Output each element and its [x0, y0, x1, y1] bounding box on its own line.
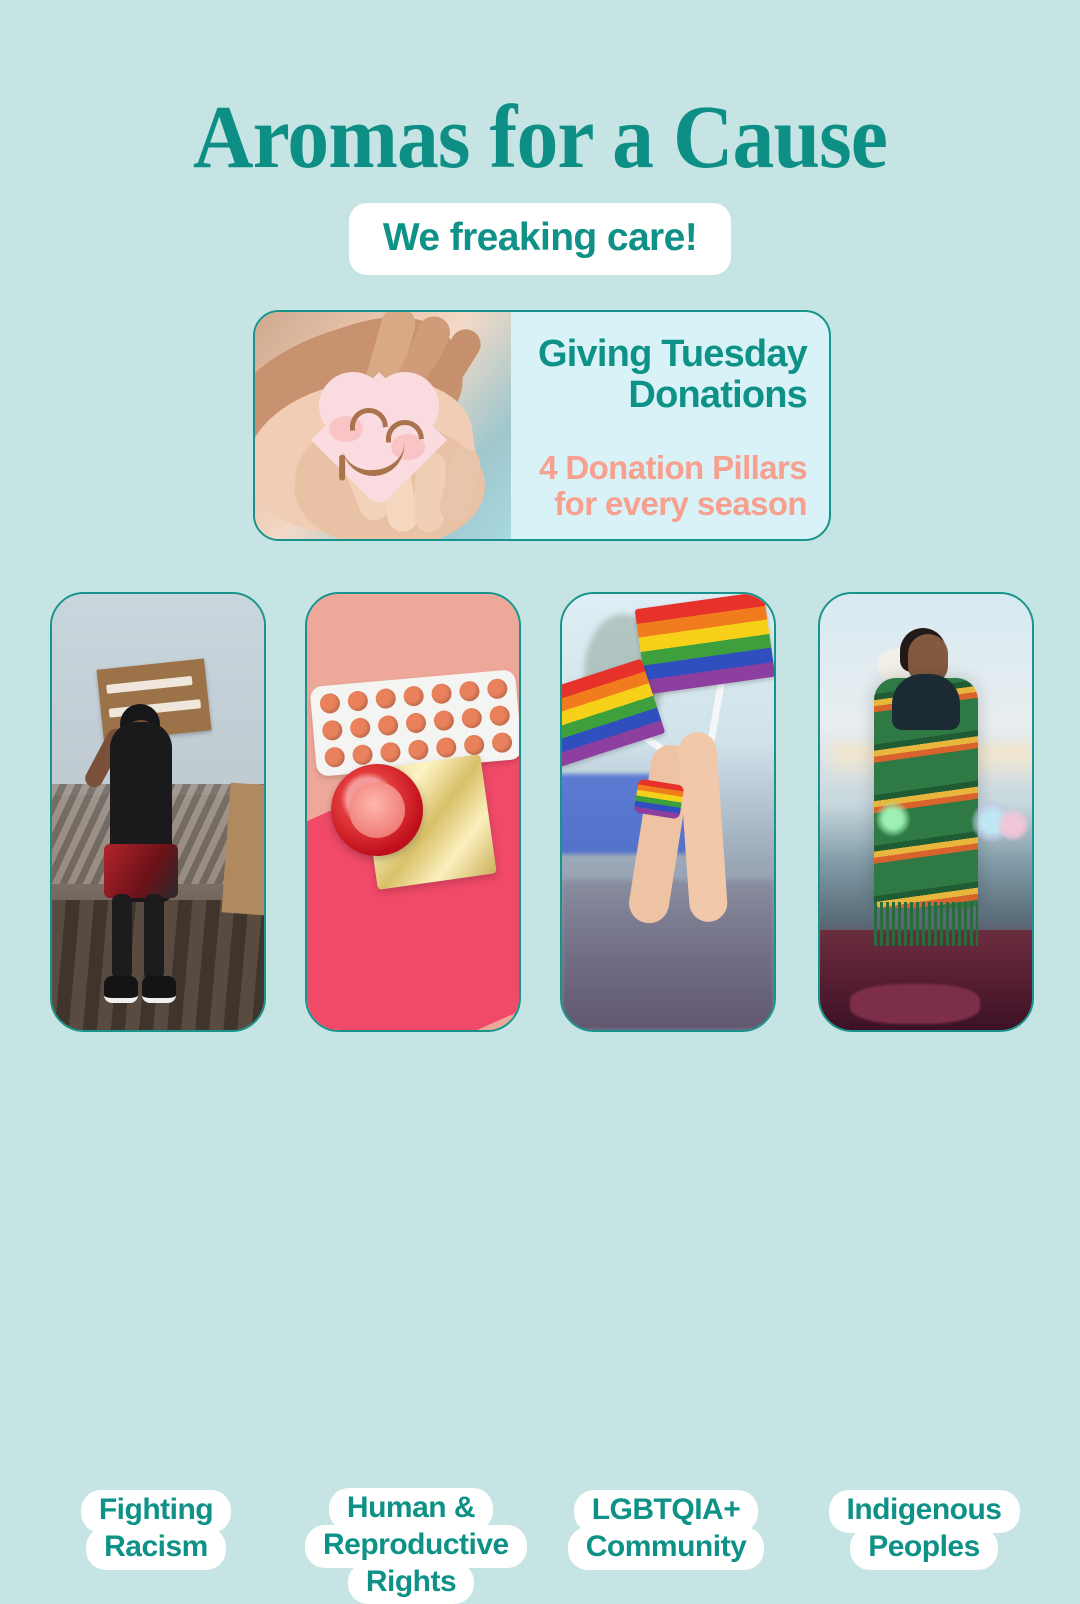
giving-tuesday-text-block: Giving Tuesday Donations 4 Donation Pill… — [511, 312, 829, 539]
rainbow-flag — [635, 594, 774, 695]
giving-tuesday-card[interactable]: Giving Tuesday Donations 4 Donation Pill… — [253, 310, 831, 541]
pillar-label-line: Peoples — [850, 1527, 998, 1570]
page-title: Aromas for a Cause — [38, 93, 1042, 183]
pride-parade-image — [562, 594, 774, 1030]
pillar-label-line: Rights — [348, 1562, 474, 1604]
rainbow-wristband — [634, 779, 685, 820]
pill-blister-pack — [309, 669, 519, 777]
condom — [331, 764, 423, 856]
donation-pillars-grid: Fighting Racism Human & Reproductive Rig… — [0, 592, 1080, 1032]
donation-pillars-subheading-line2: for every season — [521, 486, 807, 521]
contraception-image — [307, 594, 519, 1030]
pillar-card-human-reproductive-rights[interactable] — [305, 592, 521, 1032]
giving-tuesday-heading-line1: Giving Tuesday — [521, 334, 807, 375]
donation-pillars-subheading: 4 Donation Pillars for every season — [521, 450, 807, 521]
pillar-label-fighting-racism: Fighting Racism — [50, 1490, 262, 1570]
tagline-container: We freaking care! — [0, 203, 1080, 275]
pillar-label-line: Community — [568, 1527, 765, 1570]
pillar-label-lgbtqia-community: LGBTQIA+ Community — [560, 1490, 772, 1570]
pillar-card-lgbtqia-community[interactable] — [560, 592, 776, 1032]
pillar-card-fighting-racism[interactable] — [50, 592, 266, 1032]
smiling-heart-icon — [319, 372, 439, 482]
tagline-badge: We freaking care! — [349, 203, 731, 275]
hands-holding-heart-image — [255, 312, 511, 539]
indigenous-woman-image — [820, 594, 1032, 1030]
giving-tuesday-heading: Giving Tuesday Donations — [521, 334, 807, 415]
giving-tuesday-heading-line2: Donations — [521, 375, 807, 416]
pillar-label-line: Racism — [86, 1527, 226, 1570]
pillar-label-human-reproductive-rights: Human & Reproductive Rights — [305, 1488, 517, 1604]
protest-image — [52, 594, 264, 1030]
pillar-label-indigenous-peoples: Indigenous Peoples — [818, 1490, 1030, 1570]
pillar-card-indigenous-peoples[interactable] — [818, 592, 1034, 1032]
donation-pillars-subheading-line1: 4 Donation Pillars — [521, 450, 807, 485]
